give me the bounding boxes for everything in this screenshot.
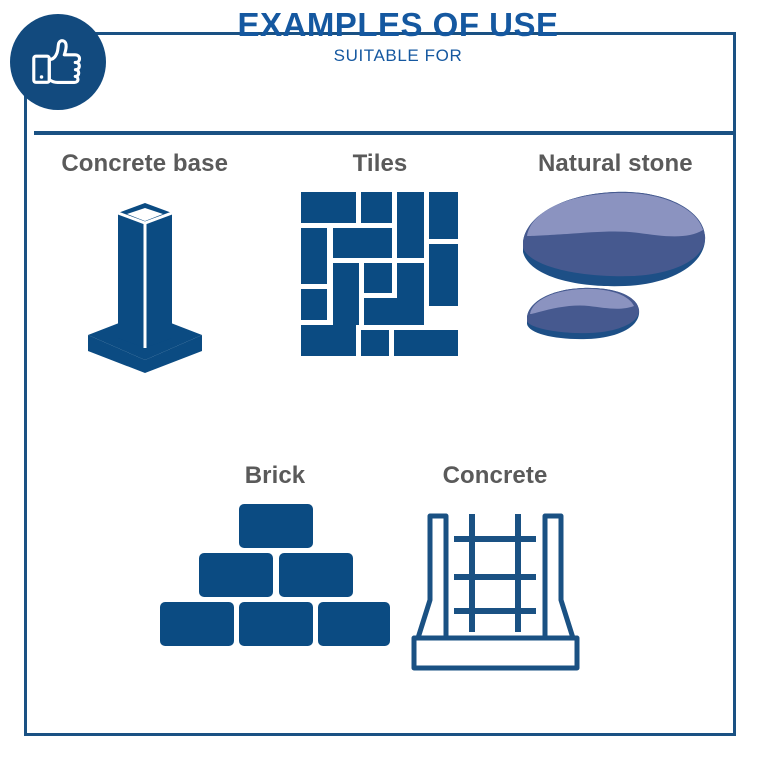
rebar-grid bbox=[454, 514, 536, 632]
stone-large bbox=[523, 192, 705, 286]
page-title: EXAMPLES OF USE bbox=[27, 8, 709, 43]
example-item-concrete: Concrete bbox=[390, 462, 600, 675]
example-label: Tiles bbox=[353, 150, 408, 178]
example-item-tiles: Tiles bbox=[262, 150, 497, 373]
example-item-natural-stone: Natural stone bbox=[498, 150, 733, 373]
examples-row-1: Concrete base bbox=[27, 150, 733, 373]
examples-row-2: Brick Concrete bbox=[160, 462, 600, 675]
example-item-concrete-base: Concrete base bbox=[27, 150, 262, 373]
brick-icon bbox=[160, 500, 390, 650]
concrete-base-icon bbox=[70, 188, 220, 373]
example-label: Natural stone bbox=[538, 150, 693, 178]
example-label: Concrete bbox=[443, 462, 548, 490]
example-item-brick: Brick bbox=[160, 462, 390, 675]
stone-small bbox=[527, 288, 639, 339]
header: EXAMPLES OF USE SUITABLE FOR bbox=[27, 8, 709, 66]
header-divider bbox=[34, 131, 734, 135]
concrete-icon bbox=[408, 500, 583, 675]
natural-stone-icon bbox=[515, 188, 715, 348]
example-label: Brick bbox=[245, 462, 306, 490]
thumbs-up-badge bbox=[10, 14, 106, 110]
page-subtitle: SUITABLE FOR bbox=[27, 46, 709, 66]
thumbs-up-icon bbox=[27, 31, 89, 93]
infographic-canvas: EXAMPLES OF USE SUITABLE FOR Concrete ba… bbox=[0, 0, 768, 768]
tiles-icon bbox=[297, 188, 462, 360]
example-label: Concrete base bbox=[61, 150, 228, 178]
